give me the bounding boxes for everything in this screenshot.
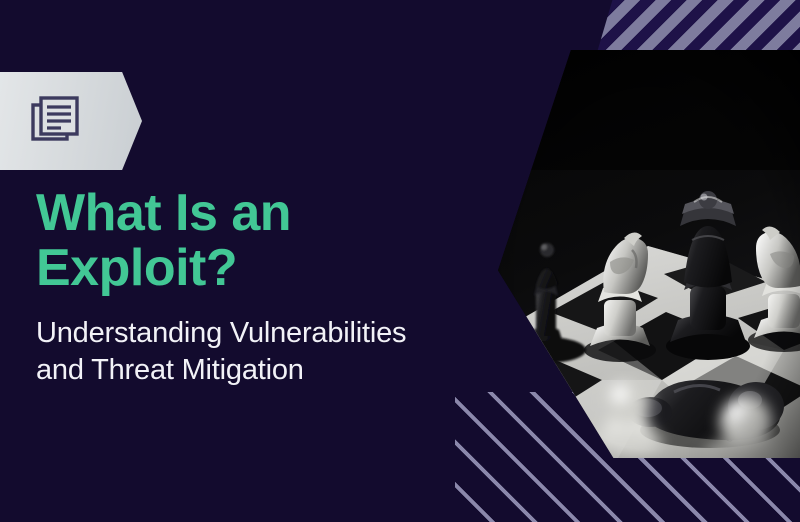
diagonal-stripes-top-right <box>596 0 800 56</box>
page-title: What Is an Exploit? <box>36 186 476 296</box>
page-subtitle: Understanding Vulnerabilities and Threat… <box>36 315 476 389</box>
article-header-banner: What Is an Exploit? Understanding Vulner… <box>0 0 800 522</box>
documents-icon <box>30 93 86 149</box>
banner-copy: What Is an Exploit? Understanding Vulner… <box>36 186 476 389</box>
category-badge <box>0 72 142 170</box>
